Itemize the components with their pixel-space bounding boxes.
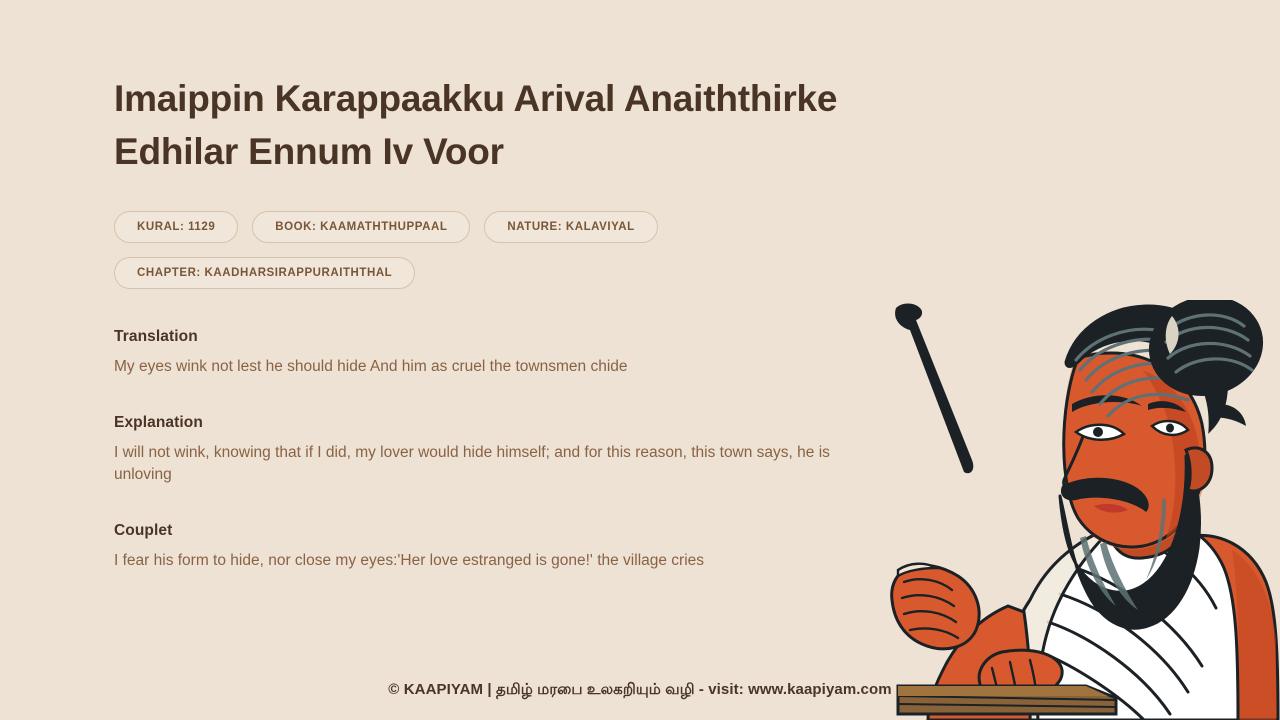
sage-pupil-far bbox=[1166, 424, 1174, 433]
face-base bbox=[1063, 351, 1207, 549]
section-translation: Translation My eyes wink not lest he sho… bbox=[114, 328, 964, 378]
explanation-label: Explanation bbox=[114, 414, 964, 432]
footer-credit: © KAAPIYAM | தமிழ் மரபை உலகறியும் வழி - … bbox=[0, 681, 1280, 700]
section-couplet: Couplet I fear his form to hide, nor clo… bbox=[114, 522, 964, 572]
sage-hair-front bbox=[1066, 306, 1226, 430]
bun-knot bbox=[1166, 316, 1179, 354]
sage-eyebrow bbox=[1072, 395, 1142, 412]
section-explanation: Explanation I will not wink, knowing tha… bbox=[114, 414, 964, 486]
metadata-badge-group: KURAL: 1129 BOOK: KAAMATHTHUPPAAL NATURE… bbox=[114, 211, 964, 289]
sage-eye-far bbox=[1152, 421, 1188, 435]
page-title: Imaippin Karappaakku Arival Anaiththirke… bbox=[114, 72, 874, 178]
sage-neck bbox=[1108, 485, 1180, 558]
sage-moustache bbox=[1061, 478, 1149, 512]
badge-chapter[interactable]: CHAPTER: KAADHARSIRAPPURAITHTHAL bbox=[114, 257, 415, 289]
kural-card-canvas: Imaippin Karappaakku Arival Anaiththirke… bbox=[0, 0, 1280, 720]
sage-beard bbox=[1060, 456, 1200, 628]
translation-label: Translation bbox=[114, 328, 964, 346]
explanation-text: I will not wink, knowing that if I did, … bbox=[114, 442, 859, 486]
bun-strands bbox=[1166, 315, 1252, 372]
sage-lip bbox=[1094, 504, 1128, 513]
couplet-text: I fear his form to hide, nor close my ey… bbox=[114, 550, 859, 572]
badge-nature[interactable]: NATURE: KALAVIYAL bbox=[484, 211, 657, 243]
sage-writing-hand bbox=[892, 565, 979, 649]
sage-writing-arm bbox=[928, 606, 1031, 720]
sage-eye bbox=[1076, 425, 1124, 440]
title-line-1: Imaippin Karappaakku Arival Anaiththirke bbox=[114, 78, 837, 119]
couplet-label: Couplet bbox=[114, 522, 964, 540]
badge-book[interactable]: BOOK: KAAMATHTHUPPAAL bbox=[252, 211, 470, 243]
title-line-2: Edhilar Ennum Iv Voor bbox=[114, 131, 504, 172]
beard-highlights bbox=[1080, 498, 1166, 610]
sage-nose bbox=[1064, 428, 1086, 491]
badge-kural[interactable]: KURAL: 1129 bbox=[114, 211, 238, 243]
kural-content: Imaippin Karappaakku Arival Anaiththirke… bbox=[114, 72, 964, 572]
sage-ear bbox=[1186, 448, 1212, 491]
sage-eyebrow-far bbox=[1148, 401, 1186, 412]
hand-fingers bbox=[902, 579, 958, 638]
hair-strands bbox=[1076, 329, 1188, 416]
translation-text: My eyes wink not lest he should hide And… bbox=[114, 356, 859, 378]
hair-tuft bbox=[1210, 404, 1246, 426]
sage-hair-bun bbox=[1140, 300, 1272, 406]
sage-face bbox=[1064, 353, 1205, 547]
sage-pupil bbox=[1093, 427, 1103, 437]
face-shadow bbox=[1142, 370, 1200, 538]
